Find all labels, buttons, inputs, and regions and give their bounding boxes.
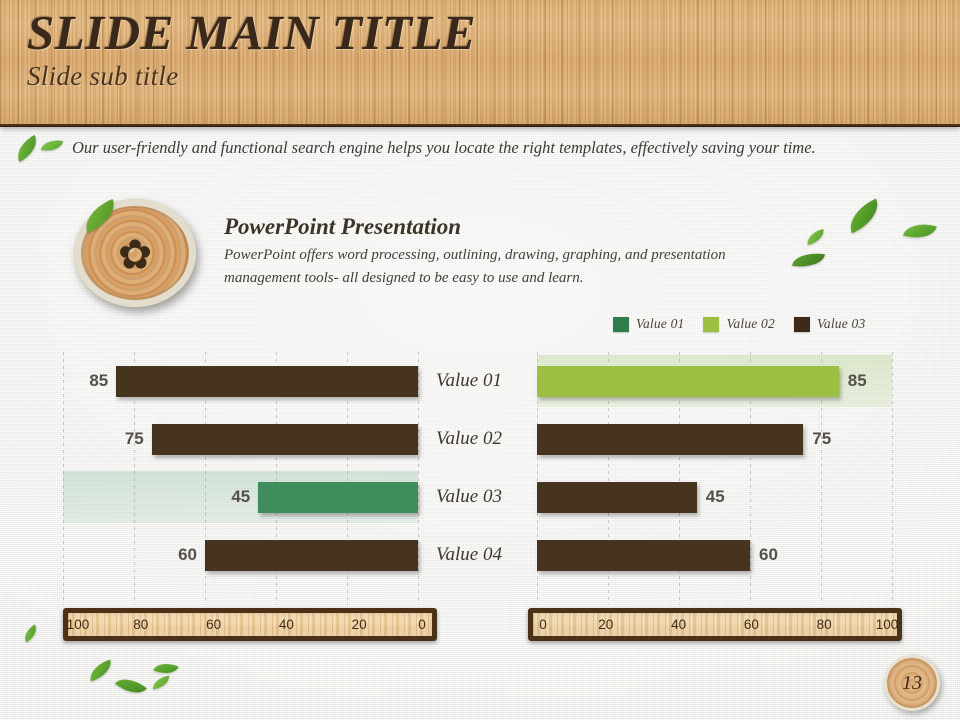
leaf-icon: [12, 135, 43, 162]
legend-label: Value 02: [726, 316, 774, 332]
card-title: PowerPoint Presentation: [224, 214, 461, 240]
bar: [258, 482, 418, 513]
leaf-icon: [115, 671, 147, 701]
leaf-icon: [805, 229, 826, 245]
axis-tick-label: 20: [598, 613, 613, 636]
axis-tick-label: 100: [876, 613, 899, 636]
bar-value-label: 85: [848, 371, 867, 391]
axis-tick-label: 60: [744, 613, 759, 636]
axis-tick-label: 100: [67, 613, 90, 636]
chart-row: 60: [537, 526, 892, 584]
leaf-icon: [86, 660, 114, 682]
bar-value-label: 85: [89, 371, 108, 391]
page-number-badge: 13: [884, 655, 940, 711]
chart-row: 45: [63, 468, 418, 526]
chart-row: 75: [537, 410, 892, 468]
slide-header: SLIDE MAIN TITLE Slide sub title: [0, 0, 960, 127]
axis-tick-label: 60: [206, 613, 221, 636]
plant-icon: ✿: [118, 235, 152, 276]
chart-legend: Value 01Value 02Value 03: [613, 316, 865, 332]
bar-value-label: 45: [706, 487, 725, 507]
category-label: Value 03: [436, 468, 502, 526]
axis-tick-label: 40: [671, 613, 686, 636]
card-body: PowerPoint offers word processing, outli…: [224, 244, 764, 289]
legend-item-1: Value 01: [613, 316, 684, 332]
axis-tick-label: 0: [539, 613, 547, 636]
bar-value-label: 60: [759, 545, 778, 565]
intro-paragraph: Our user-friendly and functional search …: [72, 136, 952, 159]
page-number: 13: [887, 658, 937, 708]
category-label: Value 02: [436, 410, 502, 468]
legend-swatch-icon: [794, 317, 810, 332]
chart-row: 60: [63, 526, 418, 584]
category-labels: Value 01Value 02Value 03Value 04: [418, 352, 538, 605]
header-text-block: SLIDE MAIN TITLE Slide sub title: [27, 8, 476, 92]
left-chart: 85754560: [63, 352, 418, 610]
leaf-icon: [903, 218, 937, 244]
legend-label: Value 03: [817, 316, 865, 332]
bar: [116, 366, 418, 397]
axis-tick-label: 40: [279, 613, 294, 636]
legend-swatch-icon: [613, 317, 629, 332]
right-chart-axis: 020406080100: [528, 608, 902, 641]
leaf-icon: [41, 137, 63, 154]
bar: [152, 424, 418, 455]
category-label: Value 01: [436, 352, 502, 410]
category-label: Value 04: [436, 526, 502, 584]
chart-row: 75: [63, 410, 418, 468]
legend-swatch-icon: [703, 317, 719, 332]
bar: [537, 540, 750, 571]
tree-slice-icon: ✿: [74, 199, 196, 307]
chart-row: 85: [537, 352, 892, 410]
left-chart-axis: 100806040200: [63, 608, 437, 641]
axis-tick-label: 80: [133, 613, 148, 636]
chart-row: 85: [63, 352, 418, 410]
leaf-icon: [843, 199, 885, 234]
chart-row: 45: [537, 468, 892, 526]
bar-value-label: 75: [125, 429, 144, 449]
bar: [537, 366, 839, 397]
bar: [537, 482, 697, 513]
page-subtitle: Slide sub title: [27, 61, 476, 92]
right-chart: 85754560: [537, 352, 892, 610]
legend-item-3: Value 03: [794, 316, 865, 332]
bar-value-label: 60: [178, 545, 197, 565]
page-title: SLIDE MAIN TITLE: [27, 8, 476, 59]
slide-canvas: SLIDE MAIN TITLE Slide sub title Our use…: [0, 0, 960, 720]
leaf-icon: [151, 676, 171, 690]
axis-tick-label: 80: [817, 613, 832, 636]
bar-value-label: 45: [231, 487, 250, 507]
legend-item-2: Value 02: [703, 316, 774, 332]
legend-label: Value 01: [636, 316, 684, 332]
gridline: [892, 352, 893, 605]
leaf-icon: [20, 624, 40, 642]
bar: [537, 424, 803, 455]
bar: [205, 540, 418, 571]
axis-tick-label: 0: [418, 613, 426, 636]
bar-value-label: 75: [812, 429, 831, 449]
axis-tick-label: 20: [352, 613, 367, 636]
leaf-icon: [792, 250, 825, 270]
